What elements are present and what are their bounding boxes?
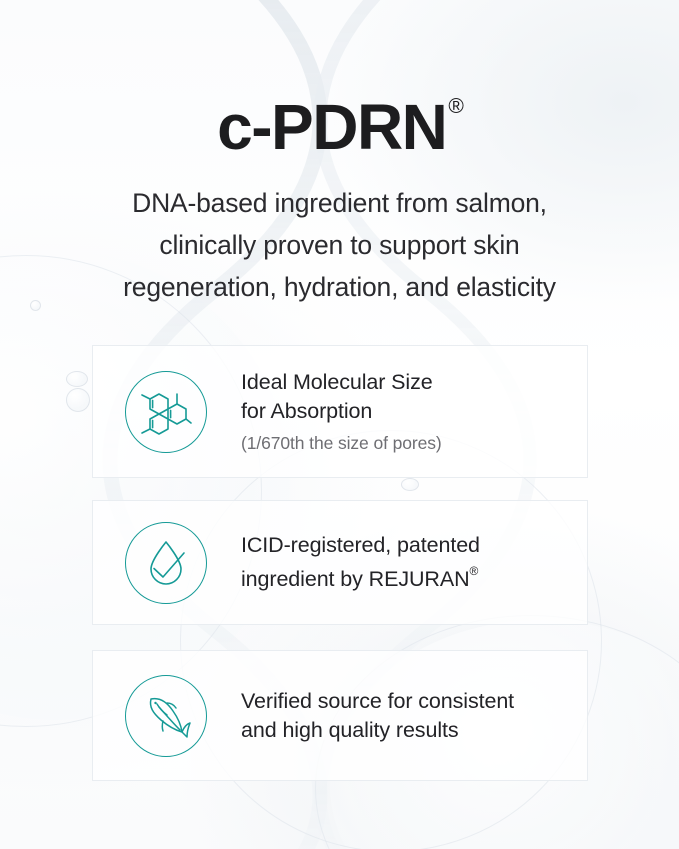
registered-trademark-symbol: ® (448, 95, 463, 118)
water-drop-check-icon (125, 522, 207, 604)
feature-card-text: ICID-registered, patented ingredient by … (241, 531, 494, 594)
registered-trademark-symbol: ® (470, 564, 479, 578)
feature-title-line-2-text: ingredient by REJURAN (241, 567, 470, 591)
feature-card-text: Verified source for consistent and high … (241, 687, 528, 745)
feature-card-molecular-size: Ideal Molecular Size for Absorption (1/6… (92, 345, 588, 478)
feature-title-line-1: Verified source for consistent (241, 687, 514, 716)
page-subtitle-line-2: clinically proven to support skin (50, 224, 629, 266)
feature-card-icid-registered: ICID-registered, patented ingredient by … (92, 500, 588, 625)
page-subtitle-line-3: regeneration, hydration, and elasticity (50, 266, 629, 308)
feature-title-line-1: Ideal Molecular Size (241, 368, 442, 397)
feature-card-title: Ideal Molecular Size for Absorption (241, 368, 442, 426)
fish-icon (125, 675, 207, 757)
page-title-wrap: c-PDRN® (0, 52, 679, 202)
feature-card-subtext: (1/670th the size of pores) (241, 431, 442, 455)
feature-title-line-2: and high quality results (241, 716, 514, 745)
page-title: c-PDRN® (217, 95, 462, 159)
page-subtitle-line-1: DNA-based ingredient from salmon, (50, 182, 629, 224)
feature-title-line-2: for Absorption (241, 397, 442, 426)
content-layer: c-PDRN® DNA-based ingredient from salmon… (0, 0, 679, 849)
feature-card-title: ICID-registered, patented ingredient by … (241, 531, 480, 594)
page-subtitle: DNA-based ingredient from salmon, clinic… (50, 182, 629, 308)
feature-card-title: Verified source for consistent and high … (241, 687, 514, 745)
feature-card-verified-source: Verified source for consistent and high … (92, 650, 588, 781)
molecule-icon (125, 371, 207, 453)
product-infographic-page: c-PDRN® DNA-based ingredient from salmon… (0, 0, 679, 849)
feature-title-line-1: ICID-registered, patented (241, 531, 480, 560)
feature-title-line-2: ingredient by REJURAN® (241, 560, 480, 594)
feature-card-text: Ideal Molecular Size for Absorption (1/6… (241, 368, 456, 455)
page-title-text: c-PDRN (217, 91, 446, 163)
feature-card-list: Ideal Molecular Size for Absorption (1/6… (92, 345, 588, 781)
